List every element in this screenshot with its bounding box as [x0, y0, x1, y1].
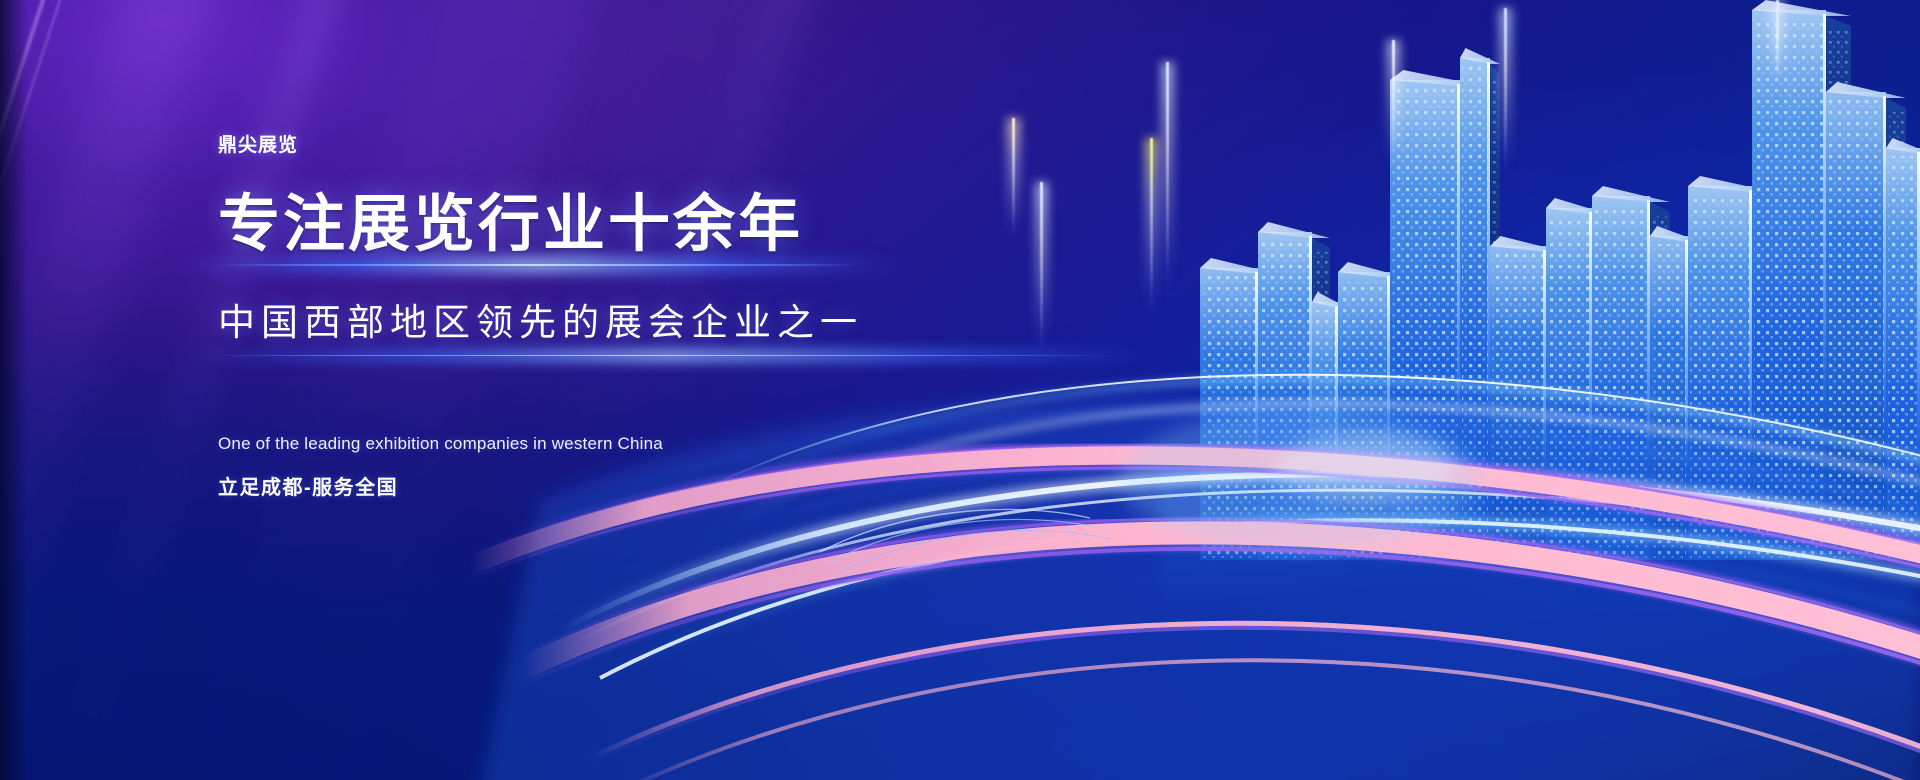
headline-group: 专注展览行业十余年 — [218, 191, 1118, 270]
antenna-4-icon — [1150, 138, 1153, 313]
antenna-6-icon — [1504, 8, 1507, 173]
headline-glow-divider — [218, 260, 858, 270]
hero-banner: 鼎尖展览 专注展览行业十余年 中国西部地区领先的展会企业之一 One of th… — [0, 0, 1920, 780]
banner-content: 鼎尖展览 专注展览行业十余年 中国西部地区领先的展会企业之一 One of th… — [218, 130, 1118, 500]
antenna-3-icon — [1166, 62, 1169, 292]
subtitle: 中国西部地区领先的展会企业之一 — [218, 292, 1118, 346]
antenna-5-icon — [1392, 40, 1395, 170]
tagline-english: One of the leading exhibition companies … — [218, 434, 1118, 454]
company-logo-text: 鼎尖展览 — [218, 130, 1118, 157]
page-title: 专注展览行业十余年 — [218, 191, 1118, 258]
antenna-7-icon — [1776, 0, 1779, 95]
tagline-chinese: 立足成都-服务全国 — [218, 471, 1118, 500]
subtitle-glow-divider — [218, 352, 1118, 360]
